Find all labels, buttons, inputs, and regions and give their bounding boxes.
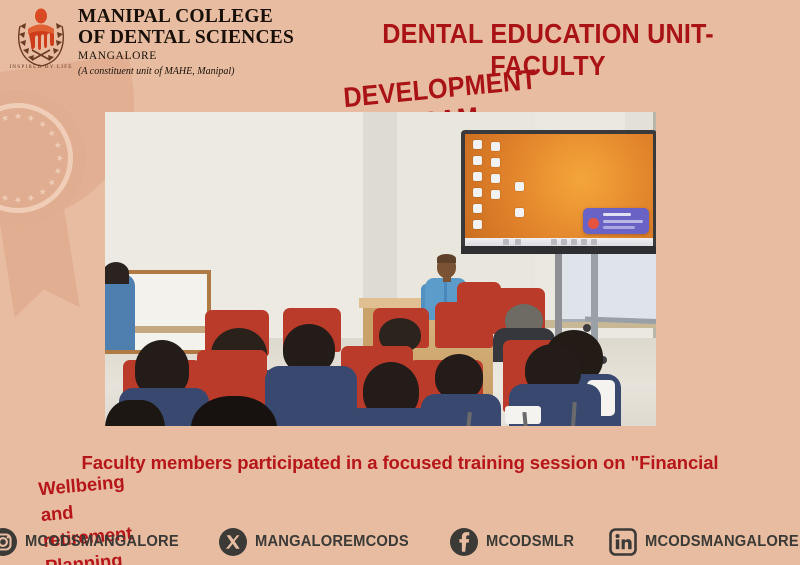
- facebook-icon: [449, 527, 479, 557]
- social-link-instagram[interactable]: MCODSMANGALORE: [0, 527, 192, 557]
- social-link-x[interactable]: MANGALOREMCODS: [218, 527, 422, 557]
- x-twitter-icon: [218, 527, 248, 557]
- rosette-badge-decoration: [0, 92, 84, 224]
- college-name-block: MANIPAL COLLEGE OF DENTAL SCIENCES MANGA…: [78, 6, 318, 78]
- desktop-icons: [471, 138, 509, 240]
- caption-line-1: Faculty members participated in a focuse…: [82, 452, 719, 473]
- rosette-stars: [0, 110, 66, 206]
- social-link-facebook[interactable]: MCODSMLR: [449, 527, 582, 557]
- social-link-linkedin[interactable]: MCODSMANGALORE: [608, 527, 800, 557]
- poster-header: INSPIRED BY LIFE MANIPAL COLLEGE OF DENT…: [0, 0, 800, 100]
- college-affiliation: (A constituent unit of MAHE, Manipal): [78, 65, 318, 78]
- social-footer: MCODSMANGALORE MANGALOREMCODS MCODSMLR: [0, 521, 800, 563]
- instagram-handle: MCODSMANGALORE: [25, 533, 179, 551]
- manipal-logo: INSPIRED BY LIFE: [8, 4, 74, 72]
- poster-canvas: INSPIRED BY LIFE MANIPAL COLLEGE OF DENT…: [0, 0, 800, 565]
- college-line-2: OF DENTAL SCIENCES: [78, 27, 318, 48]
- college-city: MANGALORE: [78, 49, 318, 64]
- event-title-line-1: DENTAL EDUCATION UNIT- FACULTY: [382, 18, 714, 81]
- notification-popup: [583, 208, 649, 234]
- x-handle: MANGALOREMCODS: [255, 533, 409, 551]
- instagram-icon: [0, 527, 18, 557]
- taskbar-icons: [503, 239, 615, 245]
- manipal-flame-laurel-icon: INSPIRED BY LIFE: [8, 4, 74, 72]
- event-photo: [105, 112, 656, 426]
- linkedin-handle: MCODSMANGALORE: [645, 533, 799, 551]
- logo-motto: INSPIRED BY LIFE: [9, 64, 72, 70]
- facebook-handle: MCODSMLR: [486, 533, 574, 551]
- college-line-1: MANIPAL COLLEGE: [78, 6, 318, 27]
- linkedin-icon: [608, 527, 638, 557]
